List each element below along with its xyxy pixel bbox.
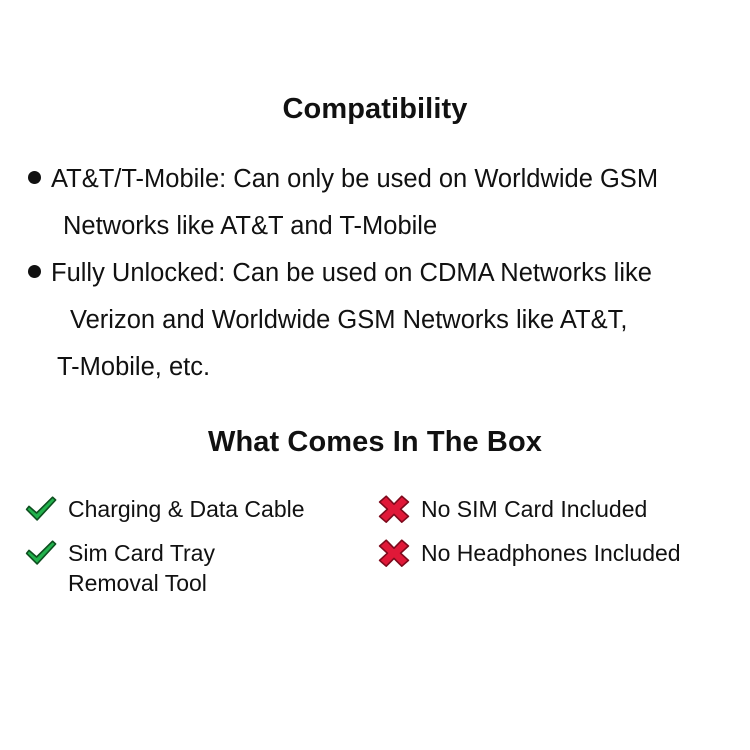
- box-contents-heading: What Comes In The Box: [0, 426, 750, 458]
- bullet-continuation-line: T-Mobile, etc.: [0, 344, 750, 391]
- compatibility-bullet-fully-unlocked: Fully Unlocked: Can be used on CDMA Netw…: [0, 250, 750, 391]
- box-item-no-sim-card: No SIM Card Included: [377, 494, 647, 524]
- compatibility-list: AT&T/T-Mobile: Can only be used on World…: [0, 156, 750, 391]
- bullet-text: AT&T/T-Mobile: Can only be used on World…: [51, 165, 658, 193]
- box-item-label: No Headphones Included: [421, 538, 681, 568]
- bullet-dot-icon: [28, 265, 41, 278]
- green-check-icon: [24, 494, 58, 524]
- bullet-line: Fully Unlocked: Can be used on CDMA Netw…: [0, 250, 750, 297]
- box-item-label: No SIM Card Included: [421, 494, 647, 524]
- green-check-icon: [24, 538, 58, 568]
- bullet-line: AT&T/T-Mobile: Can only be used on World…: [0, 156, 750, 203]
- box-item-no-headphones: No Headphones Included: [377, 538, 681, 568]
- red-cross-icon: [377, 494, 411, 524]
- box-item-label: Charging & Data Cable: [68, 494, 305, 524]
- bullet-text: Fully Unlocked: Can be used on CDMA Netw…: [51, 259, 652, 287]
- bullet-continuation-line: Networks like AT&T and T-Mobile: [0, 203, 750, 250]
- infographic-sheet: Compatibility AT&T/T-Mobile: Can only be…: [0, 0, 750, 750]
- box-item-charging-cable: Charging & Data Cable: [24, 494, 305, 524]
- bullet-dot-icon: [28, 171, 41, 184]
- red-cross-icon: [377, 538, 411, 568]
- box-item-sim-tray-tool: Sim Card Tray Removal Tool: [24, 538, 215, 598]
- compatibility-bullet-att-tmobile: AT&T/T-Mobile: Can only be used on World…: [0, 156, 750, 250]
- box-item-label: Sim Card Tray Removal Tool: [68, 538, 215, 598]
- bullet-continuation-line: Verizon and Worldwide GSM Networks like …: [0, 297, 750, 344]
- compatibility-heading: Compatibility: [0, 93, 750, 125]
